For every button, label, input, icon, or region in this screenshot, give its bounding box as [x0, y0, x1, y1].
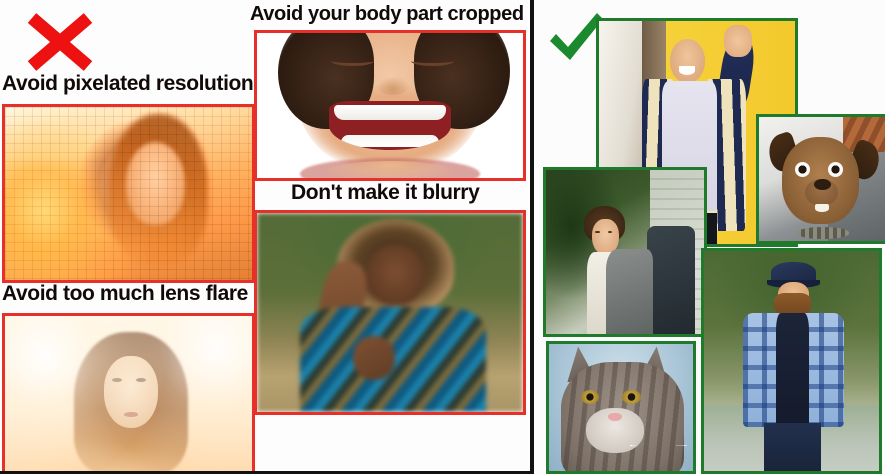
- photo-blurry: [254, 210, 526, 415]
- good-examples-panel: [534, 0, 885, 474]
- photo-body-part-cropped: [254, 30, 526, 181]
- photo-tabby-cat: [546, 341, 696, 474]
- photo-plaid-man: [701, 248, 882, 474]
- photo-tabby-cat-artwork: [549, 344, 693, 471]
- caption-dont-make-it-blurry: Don't make it blurry: [291, 182, 479, 203]
- photo-surprised-dog-artwork: [759, 117, 885, 241]
- photo-lens-flare-artwork: [5, 316, 252, 471]
- photo-pixelated-artwork: [5, 107, 252, 280]
- comparison-board: Avoid pixelated resolution Avoid too muc…: [0, 0, 885, 474]
- photo-porch-young-man-artwork: [546, 170, 704, 334]
- x-mark-icon: [24, 13, 96, 71]
- photo-surprised-dog: [756, 114, 885, 244]
- photo-blurry-artwork: [257, 213, 523, 412]
- photo-pixelated-resolution: [2, 104, 255, 283]
- bad-examples-panel: Avoid pixelated resolution Avoid too muc…: [0, 0, 531, 474]
- caption-avoid-body-part-cropped: Avoid your body part cropped: [250, 4, 524, 24]
- caption-avoid-lens-flare: Avoid too much lens flare: [2, 283, 248, 304]
- photo-plaid-man-artwork: [704, 251, 879, 471]
- photo-lens-flare: [2, 313, 255, 474]
- photo-porch-young-man: [543, 167, 707, 337]
- photo-cropped-artwork: [257, 33, 523, 178]
- caption-avoid-pixelated: Avoid pixelated resolution: [2, 73, 253, 94]
